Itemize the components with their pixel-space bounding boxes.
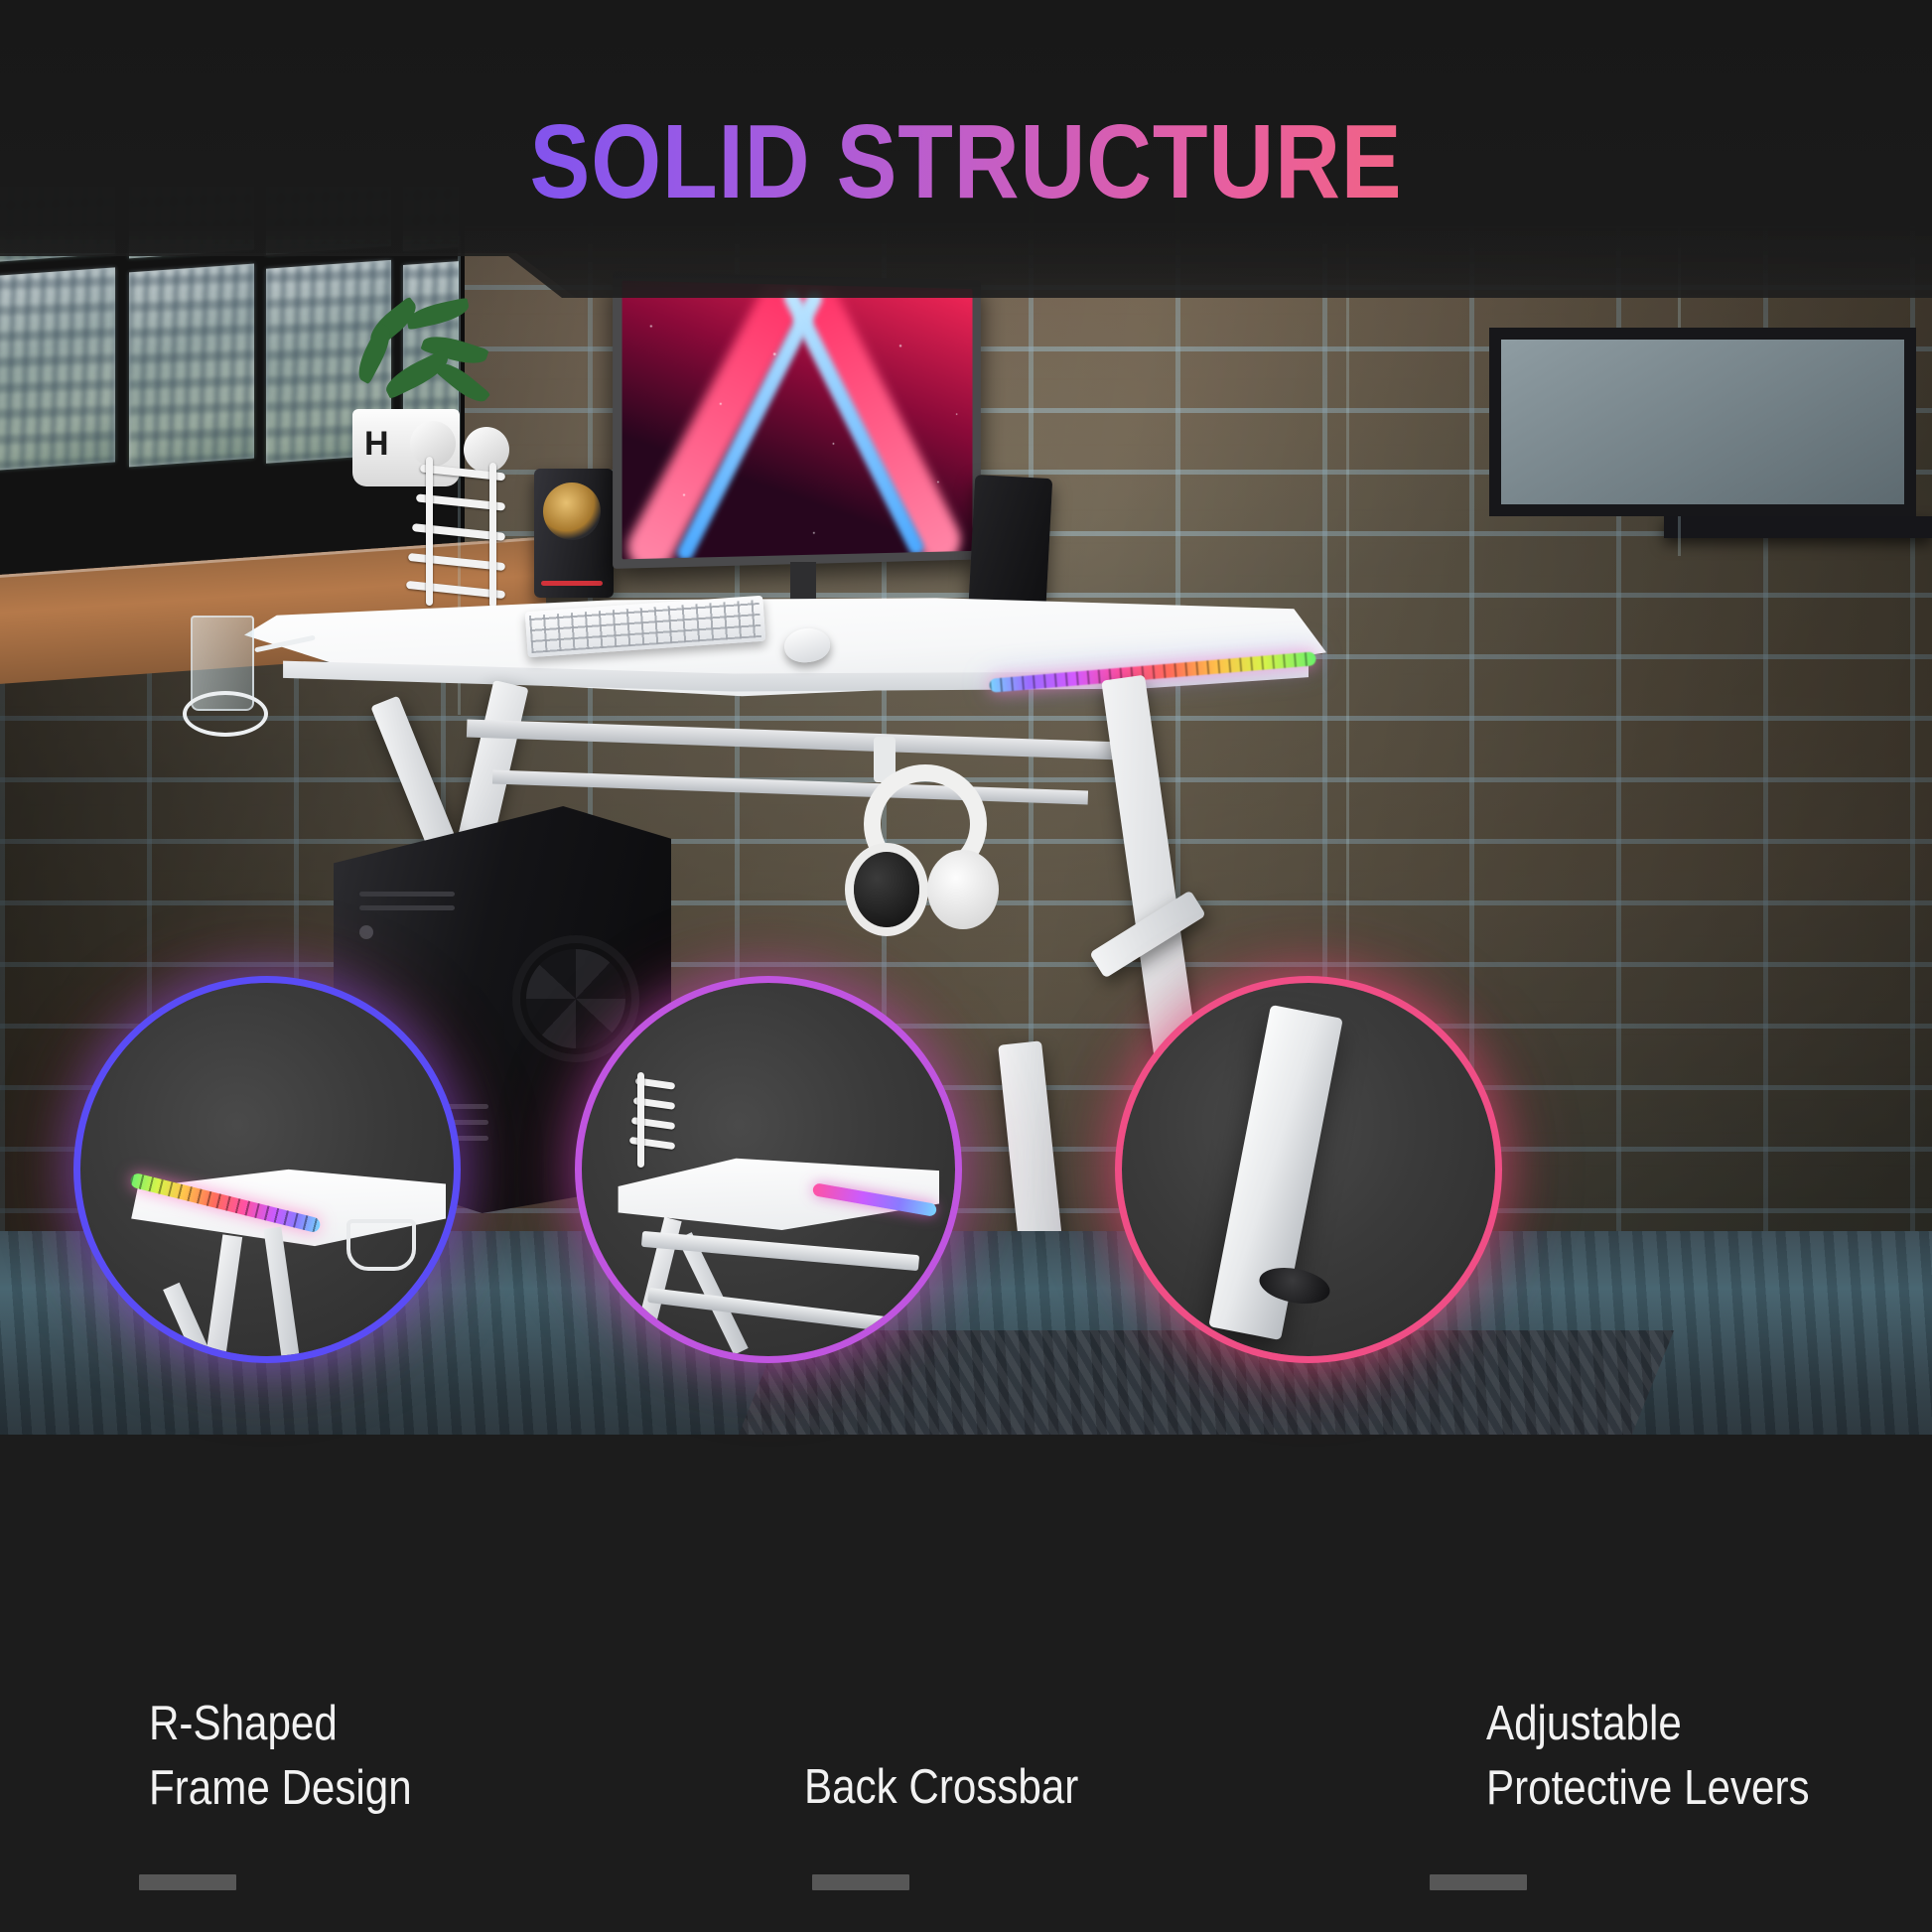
- bottom-band: [0, 1435, 1932, 1932]
- tv-panel: [1489, 328, 1916, 516]
- monitor: [613, 271, 981, 569]
- feature-label-protective-levers: Adjustable Protective Levers: [1486, 1692, 1810, 1820]
- feature-label-r-shaped-frame: R-Shaped Frame Design: [149, 1692, 412, 1820]
- feature-circle-protective-levers[interactable]: [1122, 983, 1495, 1356]
- headphone-stand-detail: [627, 1066, 677, 1162]
- feature-label-back-crossbar: Back Crossbar: [804, 1755, 1078, 1820]
- monitor-screen: [622, 281, 973, 560]
- cup-holder: [177, 616, 286, 750]
- headphones: [856, 764, 995, 953]
- wall-shelf-lower: [1664, 516, 1932, 538]
- feature-circle-r-shaped-frame[interactable]: [80, 983, 454, 1356]
- cup-holder-detail: [346, 1219, 416, 1271]
- footer-marker-1: [139, 1874, 236, 1890]
- pot-letter: H: [364, 425, 390, 464]
- product-infographic: H: [0, 0, 1932, 1932]
- footer-marker-2: [812, 1874, 909, 1890]
- page-title: SOLID STRUCTURE: [135, 107, 1797, 217]
- feature-circle-back-crossbar[interactable]: [582, 983, 955, 1356]
- footer-marker-3: [1430, 1874, 1527, 1890]
- headphone-stand: [402, 417, 521, 616]
- desktop-speaker: [534, 469, 614, 598]
